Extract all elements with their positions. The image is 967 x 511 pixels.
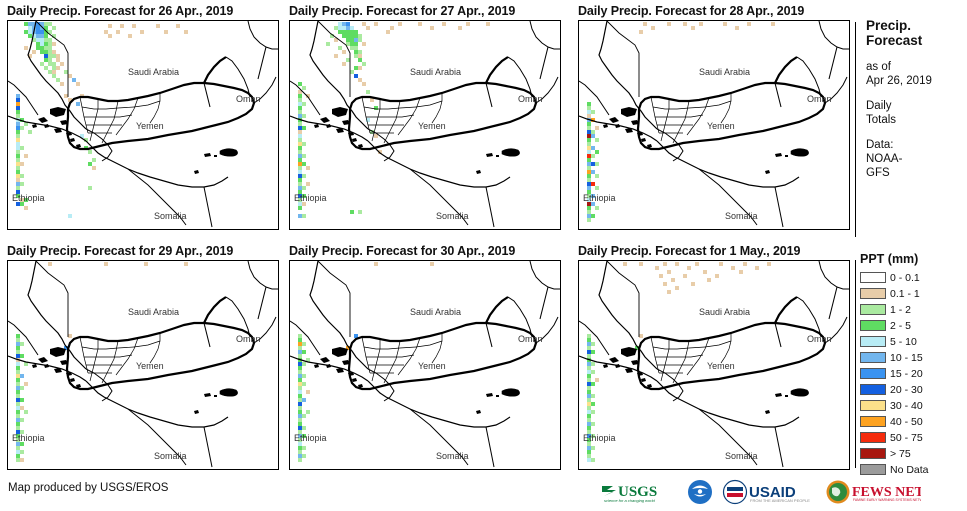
map-label-oman: Oman <box>518 94 543 104</box>
info-title: Precip. Forecast <box>866 18 966 48</box>
panel-title-6: Daily Precip. Forecast for 1 May., 2019 <box>578 244 800 258</box>
map-label-oman: Oman <box>518 334 543 344</box>
map-label-ethiopia: Ethiopia <box>583 193 616 203</box>
map-label-saudi-arabia: Saudi Arabia <box>699 67 750 77</box>
legend-label: 30 - 40 <box>890 400 923 412</box>
svg-text:FAMINE EARLY WARNING SYSTEMS N: FAMINE EARLY WARNING SYSTEMS NETWORK <box>853 498 921 502</box>
legend-label: 10 - 15 <box>890 352 923 364</box>
map-label-oman: Oman <box>807 94 832 104</box>
map-label-yemen: Yemen <box>707 361 735 371</box>
legend-swatch <box>860 272 886 283</box>
legend-label: 40 - 50 <box>890 416 923 428</box>
legend-item: 30 - 40 <box>860 398 965 413</box>
legend-label: 5 - 10 <box>890 336 917 348</box>
map-label-oman: Oman <box>807 334 832 344</box>
legend-swatch <box>860 432 886 443</box>
map-label-somalia: Somalia <box>725 211 758 221</box>
usgs-logo: USGS science for a changing world <box>600 479 678 505</box>
svg-text:science for a changing world: science for a changing world <box>604 498 655 503</box>
right-column-separator-bottom <box>855 260 856 468</box>
legend-item: 0 - 0.1 <box>860 270 965 285</box>
legend-rows: 0 - 0.10.1 - 11 - 22 - 55 - 1010 - 1515 … <box>860 270 965 477</box>
map-label-yemen: Yemen <box>707 121 735 131</box>
legend-label: No Data <box>890 464 929 476</box>
map-label-somalia: Somalia <box>436 451 469 461</box>
map-frame-5: Saudi ArabiaOmanYemenEthiopiaSomalia <box>289 260 561 470</box>
legend-item: 50 - 75 <box>860 430 965 445</box>
map-label-saudi-arabia: Saudi Arabia <box>410 67 461 77</box>
info-panel: Precip. Forecast as of Apr 26, 2019 Dail… <box>866 18 966 191</box>
map-frame-2: Saudi ArabiaOmanYemenEthiopiaSomalia <box>289 20 561 230</box>
map-label-somalia: Somalia <box>436 211 469 221</box>
legend-swatch <box>860 416 886 427</box>
map-frame-3: Saudi ArabiaOmanYemenEthiopiaSomalia <box>578 20 850 230</box>
map-label-saudi-arabia: Saudi Arabia <box>128 67 179 77</box>
map-label-yemen: Yemen <box>136 121 164 131</box>
noaa-logo <box>687 479 713 505</box>
legend-swatch <box>860 448 886 459</box>
info-asof: as of Apr 26, 2019 <box>866 60 966 88</box>
fewsnet-logo: FEWS NET FAMINE EARLY WARNING SYSTEMS NE… <box>825 479 921 505</box>
map-label-saudi-arabia: Saudi Arabia <box>410 307 461 317</box>
map-canvas: Saudi ArabiaOmanYemenEthiopiaSomalia <box>8 21 278 229</box>
logo-strip: USGS science for a changing world USAID … <box>600 477 921 507</box>
legend-swatch <box>860 352 886 363</box>
map-label-somalia: Somalia <box>725 451 758 461</box>
panel-title-3: Daily Precip. Forecast for 28 Apr., 2019 <box>578 4 804 18</box>
map-label-somalia: Somalia <box>154 211 187 221</box>
forecast-panel-3: Daily Precip. Forecast for 28 Apr., 2019… <box>578 4 850 230</box>
forecast-panel-4: Daily Precip. Forecast for 29 Apr., 2019… <box>7 244 279 470</box>
map-label-ethiopia: Ethiopia <box>583 433 616 443</box>
legend-swatch <box>860 384 886 395</box>
map-frame-6: Saudi ArabiaOmanYemenEthiopiaSomalia <box>578 260 850 470</box>
map-label-saudi-arabia: Saudi Arabia <box>128 307 179 317</box>
map-label-somalia: Somalia <box>154 451 187 461</box>
legend-item: No Data <box>860 462 965 477</box>
legend-swatch <box>860 288 886 299</box>
map-canvas: Saudi ArabiaOmanYemenEthiopiaSomalia <box>8 261 278 469</box>
usaid-logo: USAID FROM THE AMERICAN PEOPLE <box>722 479 816 505</box>
map-canvas: Saudi ArabiaOmanYemenEthiopiaSomalia <box>579 21 849 229</box>
legend-label: 2 - 5 <box>890 320 911 332</box>
legend: PPT (mm) 0 - 0.10.1 - 11 - 22 - 55 - 101… <box>860 252 965 478</box>
legend-swatch <box>860 336 886 347</box>
map-canvas: Saudi ArabiaOmanYemenEthiopiaSomalia <box>290 261 560 469</box>
map-label-yemen: Yemen <box>136 361 164 371</box>
info-totals: Daily Totals <box>866 99 966 127</box>
legend-label: 1 - 2 <box>890 304 911 316</box>
legend-item: 1 - 2 <box>860 302 965 317</box>
map-label-ethiopia: Ethiopia <box>12 433 45 443</box>
map-canvas: Saudi ArabiaOmanYemenEthiopiaSomalia <box>290 21 560 229</box>
map-label-ethiopia: Ethiopia <box>12 193 45 203</box>
legend-swatch <box>860 400 886 411</box>
map-credit: Map produced by USGS/EROS <box>8 482 168 494</box>
forecast-panel-1: Daily Precip. Forecast for 26 Apr., 2019… <box>7 4 279 230</box>
legend-item: 15 - 20 <box>860 366 965 381</box>
panel-title-5: Daily Precip. Forecast for 30 Apr., 2019 <box>289 244 515 258</box>
legend-label: 15 - 20 <box>890 368 923 380</box>
forecast-panel-5: Daily Precip. Forecast for 30 Apr., 2019… <box>289 244 561 470</box>
legend-swatch <box>860 304 886 315</box>
legend-item: 20 - 30 <box>860 382 965 397</box>
map-canvas: Saudi ArabiaOmanYemenEthiopiaSomalia <box>579 261 849 469</box>
map-label-yemen: Yemen <box>418 361 446 371</box>
forecast-sheet: Daily Precip. Forecast for 26 Apr., 2019… <box>0 0 967 511</box>
map-frame-1: Saudi ArabiaOmanYemenEthiopiaSomalia <box>7 20 279 230</box>
legend-swatch <box>860 368 886 379</box>
legend-item: 5 - 10 <box>860 334 965 349</box>
map-label-yemen: Yemen <box>418 121 446 131</box>
legend-label: > 75 <box>890 448 911 460</box>
legend-item: 40 - 50 <box>860 414 965 429</box>
legend-item: 10 - 15 <box>860 350 965 365</box>
info-data-source: Data: NOAA- GFS <box>866 138 966 180</box>
legend-label: 50 - 75 <box>890 432 923 444</box>
map-label-ethiopia: Ethiopia <box>294 193 327 203</box>
legend-label: 20 - 30 <box>890 384 923 396</box>
forecast-panel-2: Daily Precip. Forecast for 27 Apr., 2019… <box>289 4 561 230</box>
panel-title-2: Daily Precip. Forecast for 27 Apr., 2019 <box>289 4 515 18</box>
legend-label: 0 - 0.1 <box>890 272 920 284</box>
legend-item: > 75 <box>860 446 965 461</box>
legend-title: PPT (mm) <box>860 252 965 266</box>
map-label-oman: Oman <box>236 94 261 104</box>
map-frame-4: Saudi ArabiaOmanYemenEthiopiaSomalia <box>7 260 279 470</box>
panel-title-4: Daily Precip. Forecast for 29 Apr., 2019 <box>7 244 233 258</box>
map-label-oman: Oman <box>236 334 261 344</box>
right-column-separator-top <box>855 22 856 237</box>
map-label-saudi-arabia: Saudi Arabia <box>699 307 750 317</box>
map-label-ethiopia: Ethiopia <box>294 433 327 443</box>
legend-swatch <box>860 464 886 475</box>
forecast-panel-6: Daily Precip. Forecast for 1 May., 2019 … <box>578 244 850 470</box>
legend-label: 0.1 - 1 <box>890 288 920 300</box>
svg-text:FROM THE AMERICAN PEOPLE: FROM THE AMERICAN PEOPLE <box>750 498 810 503</box>
legend-item: 0.1 - 1 <box>860 286 965 301</box>
legend-swatch <box>860 320 886 331</box>
legend-item: 2 - 5 <box>860 318 965 333</box>
panel-title-1: Daily Precip. Forecast for 26 Apr., 2019 <box>7 4 233 18</box>
